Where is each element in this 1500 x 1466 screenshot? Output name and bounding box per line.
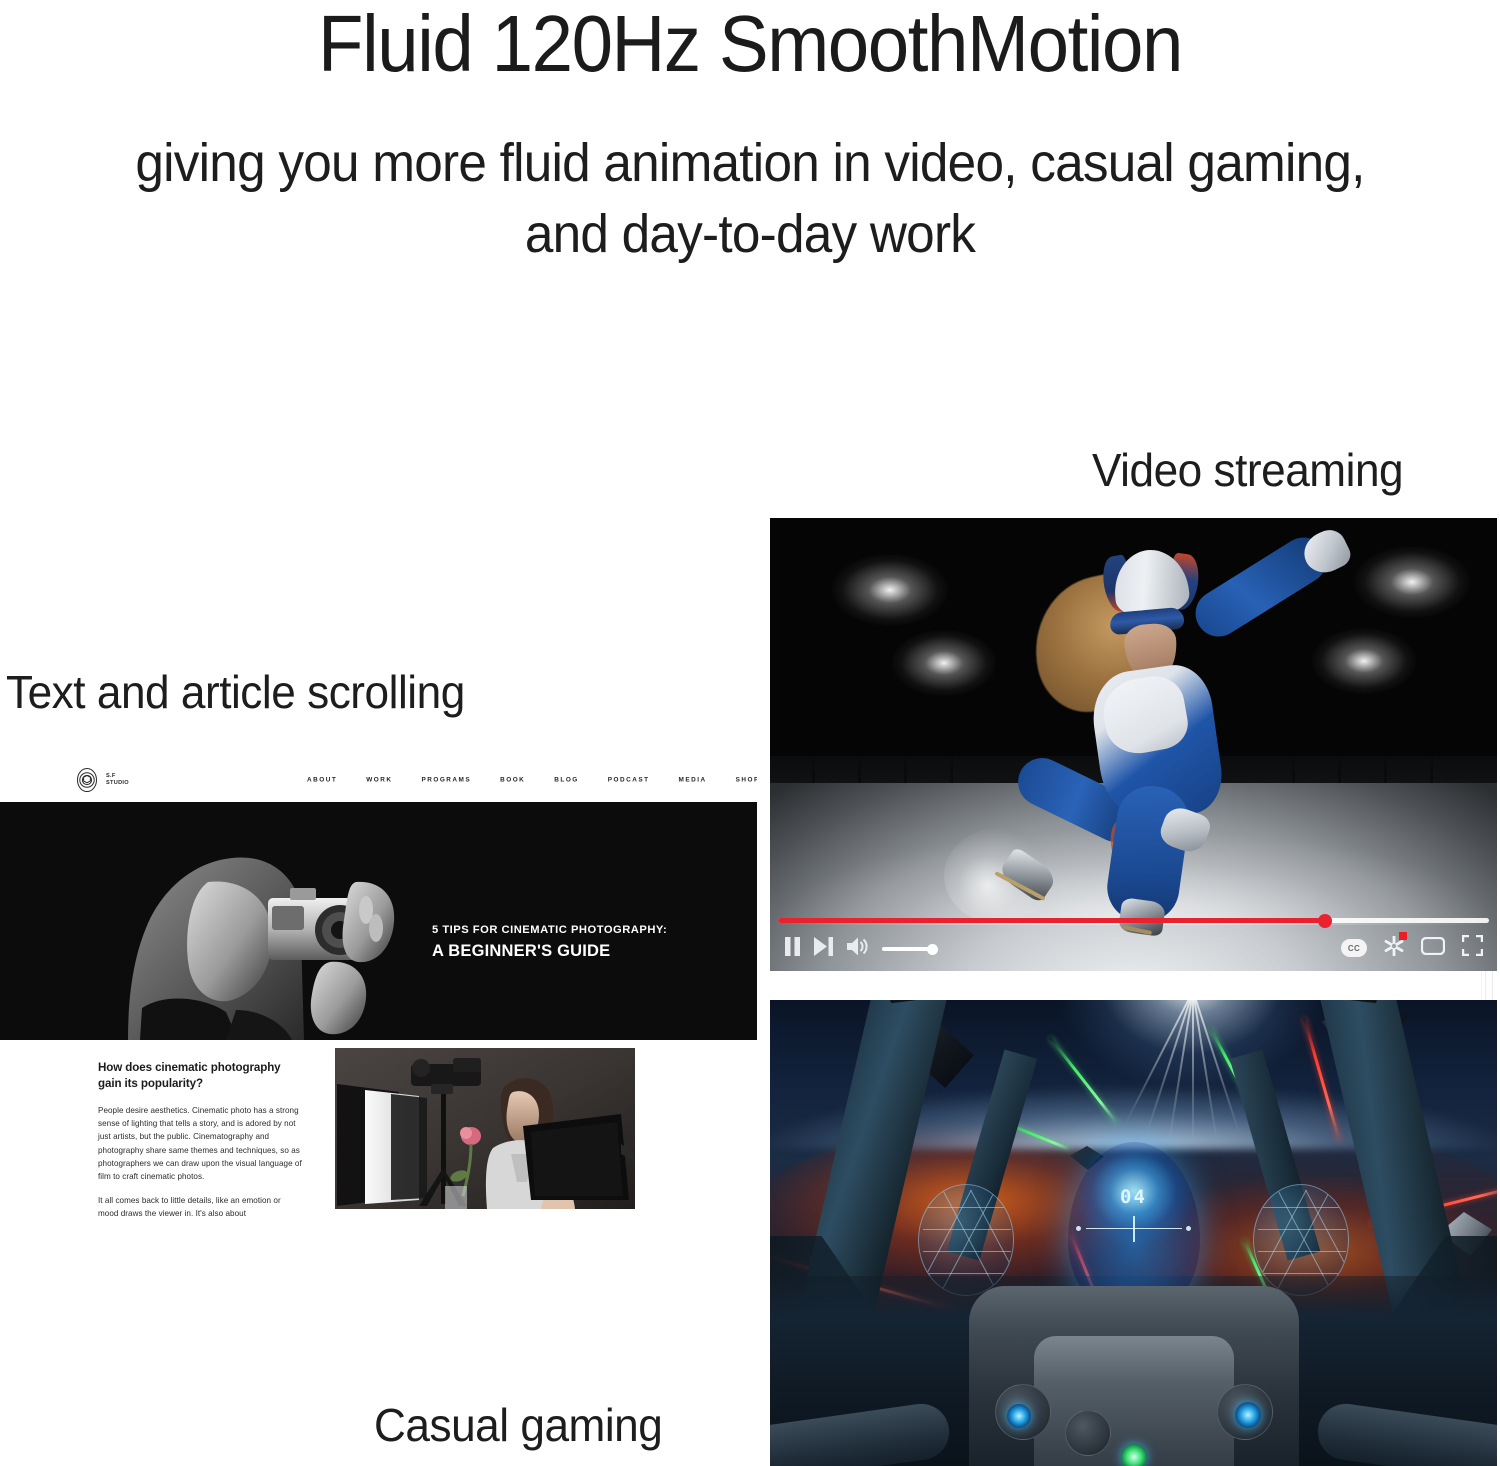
logo-text: S.F STUDIO	[106, 773, 129, 787]
video-controls-bar: CC	[770, 911, 1497, 971]
site-nav-links: ABOUT WORK PROGRAMS BOOK BLOG PODCAST ME…	[307, 776, 757, 783]
volume-slider[interactable]	[882, 947, 936, 951]
promo-page: Fluid 120Hz SmoothMotion giving you more…	[0, 0, 1500, 1466]
video-player-card[interactable]: CC	[770, 518, 1497, 971]
video-scene	[770, 518, 1497, 971]
hero-headline: A BEGINNER'S GUIDE	[432, 942, 712, 961]
settings-badge	[1399, 932, 1407, 940]
page-title: Fluid 120Hz SmoothMotion	[53, 4, 1448, 84]
hero-kicker: 5 TIPS FOR CINEMATIC PHOTOGRAPHY:	[432, 924, 712, 936]
page-subtitle: giving you more fluid animation in video…	[95, 128, 1406, 271]
article-body: How does cinematic photography gain its …	[0, 1040, 757, 1253]
label-video-streaming: Video streaming	[1092, 443, 1403, 497]
settings-button[interactable]	[1384, 936, 1404, 961]
game-scene-card[interactable]: 04	[770, 1000, 1497, 1466]
console-indicator[interactable]	[1007, 1404, 1031, 1428]
nav-item-podcast[interactable]: PODCAST	[608, 776, 650, 783]
logo-line-2: STUDIO	[106, 780, 129, 786]
site-navbar: S.F STUDIO ABOUT WORK PROGRAMS BOOK BLOG…	[0, 757, 757, 802]
console-indicator[interactable]	[1121, 1444, 1147, 1466]
article-paragraph-2: It all comes back to little details, lik…	[98, 1194, 303, 1220]
spotlight	[1312, 628, 1416, 694]
hud-readout: 04	[1068, 1186, 1200, 1208]
controls-left-group	[784, 937, 936, 961]
console-indicator[interactable]	[1235, 1402, 1261, 1428]
photographer-photo	[0, 802, 757, 1040]
nav-item-blog[interactable]: BLOG	[554, 776, 578, 783]
logo-line-1: S.F	[106, 773, 116, 779]
aperture-icon	[74, 767, 100, 793]
miniplayer-button[interactable]	[1421, 937, 1445, 960]
mute-button[interactable]	[847, 937, 869, 961]
cockpit-console	[969, 1286, 1299, 1466]
nav-item-programs[interactable]: PROGRAMS	[421, 776, 471, 783]
nav-item-book[interactable]: BOOK	[500, 776, 525, 783]
article-heading: How does cinematic photography gain its …	[98, 1060, 303, 1091]
next-button[interactable]	[814, 937, 834, 961]
controls-right-group: CC	[1341, 935, 1483, 961]
progress-bar[interactable]	[778, 918, 1489, 923]
nav-item-shop[interactable]: SHOP	[736, 776, 757, 783]
captions-button[interactable]: CC	[1341, 939, 1367, 957]
spotlight	[832, 554, 948, 626]
article-text-column: How does cinematic photography gain its …	[98, 1060, 303, 1232]
progress-fill	[778, 918, 1325, 923]
article-paragraph-1: People desire aesthetics. Cinematic phot…	[98, 1104, 303, 1183]
studio-photo	[335, 1048, 635, 1209]
console-dial[interactable]	[1065, 1410, 1111, 1456]
nav-item-work[interactable]: WORK	[366, 776, 392, 783]
article-browser-panel[interactable]: S.F STUDIO ABOUT WORK PROGRAMS BOOK BLOG…	[0, 757, 757, 1253]
nav-item-about[interactable]: ABOUT	[307, 776, 337, 783]
pause-button[interactable]	[784, 937, 801, 961]
nav-item-media[interactable]: MEDIA	[679, 776, 707, 783]
speed-skater	[992, 528, 1322, 948]
label-text-scrolling: Text and article scrolling	[6, 665, 465, 719]
hero-caption: 5 TIPS FOR CINEMATIC PHOTOGRAPHY: A BEGI…	[432, 924, 712, 961]
spotlight	[892, 630, 996, 696]
spotlight	[1354, 546, 1470, 618]
fullscreen-button[interactable]	[1462, 935, 1483, 961]
site-logo[interactable]: S.F STUDIO	[74, 767, 129, 793]
article-hero-banner: 5 TIPS FOR CINEMATIC PHOTOGRAPHY: A BEGI…	[0, 802, 757, 1040]
label-casual-gaming: Casual gaming	[374, 1398, 662, 1452]
progress-knob[interactable]	[1318, 914, 1332, 928]
volume-knob[interactable]	[927, 944, 938, 955]
